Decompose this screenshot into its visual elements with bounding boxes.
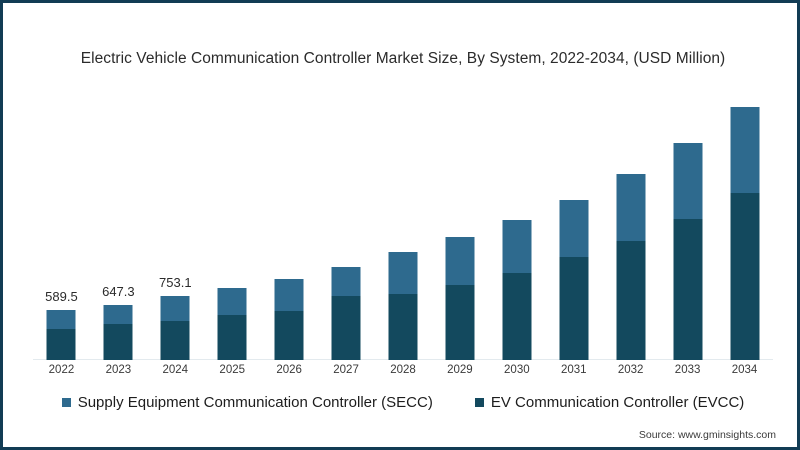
chart-legend: Supply Equipment Communication Controlle…: [6, 394, 794, 411]
bar-segment-evcc[interactable]: [104, 324, 133, 360]
bar-segment-evcc[interactable]: [616, 241, 645, 360]
bar-segment-secc[interactable]: [47, 310, 76, 329]
bar-segment-secc[interactable]: [559, 200, 588, 257]
stacked-bar[interactable]: [559, 200, 588, 360]
bar-segment-evcc[interactable]: [332, 296, 361, 360]
bar-group: [204, 88, 261, 360]
bar-value-label: 753.1: [159, 275, 192, 290]
stacked-bar[interactable]: [388, 252, 417, 360]
bar-segment-evcc[interactable]: [47, 329, 76, 360]
bar-group: [716, 88, 773, 360]
bar-group: [488, 88, 545, 360]
legend-label-secc: Supply Equipment Communication Controlle…: [78, 394, 433, 411]
legend-item-evcc[interactable]: EV Communication Controller (EVCC): [475, 394, 744, 411]
bar-group: [602, 88, 659, 360]
bar-segment-evcc[interactable]: [218, 315, 247, 360]
bar-segment-evcc[interactable]: [502, 273, 531, 360]
chart-inner-frame: Electric Vehicle Communication Controlle…: [6, 6, 794, 444]
bar-segment-evcc[interactable]: [730, 193, 759, 360]
bar-segment-secc[interactable]: [218, 288, 247, 315]
bar-segment-evcc[interactable]: [673, 219, 702, 360]
x-tick-label: 2027: [318, 364, 375, 376]
x-axis-tick-labels: 2022202320242025202620272028202920302031…: [33, 364, 773, 384]
bar-group: 589.5: [33, 88, 90, 360]
legend-item-secc[interactable]: Supply Equipment Communication Controlle…: [62, 394, 433, 411]
bar-group: [545, 88, 602, 360]
bar-segment-secc[interactable]: [161, 296, 190, 321]
bar-segment-secc[interactable]: [445, 237, 474, 285]
bar-segment-secc[interactable]: [388, 252, 417, 294]
bar-segment-secc[interactable]: [332, 267, 361, 296]
stacked-bar[interactable]: [47, 310, 76, 360]
bar-group: 647.3: [90, 88, 147, 360]
bar-group: [431, 88, 488, 360]
bar-segment-evcc[interactable]: [559, 257, 588, 360]
x-tick-label: 2031: [545, 364, 602, 376]
bar-group: [318, 88, 375, 360]
x-tick-label: 2022: [33, 364, 90, 376]
stacked-bar[interactable]: [445, 237, 474, 360]
bar-segment-secc[interactable]: [730, 107, 759, 193]
bar-segment-secc[interactable]: [673, 143, 702, 220]
legend-swatch-icon-evcc: [475, 398, 484, 407]
source-attribution: Source: www.gminsights.com: [639, 429, 776, 441]
stacked-bar[interactable]: [673, 143, 702, 360]
bar-segment-secc[interactable]: [616, 174, 645, 241]
bar-group: 753.1: [147, 88, 204, 360]
page-title: Electric Vehicle Communication Controlle…: [6, 50, 794, 68]
stacked-bar[interactable]: [104, 305, 133, 360]
chart-figure: Electric Vehicle Communication Controlle…: [0, 0, 800, 450]
bar-segment-evcc[interactable]: [161, 321, 190, 360]
bar-segment-secc[interactable]: [502, 220, 531, 273]
bar-group: [375, 88, 432, 360]
x-tick-label: 2028: [375, 364, 432, 376]
stacked-bar[interactable]: [275, 279, 304, 360]
bar-segment-evcc[interactable]: [388, 294, 417, 360]
x-tick-label: 2023: [90, 364, 147, 376]
bar-value-label: 647.3: [102, 284, 135, 299]
bar-value-label: 589.5: [45, 289, 78, 304]
stacked-bar[interactable]: [730, 107, 759, 360]
bar-segment-secc[interactable]: [104, 305, 133, 324]
bar-segment-secc[interactable]: [275, 279, 304, 312]
plot-area: 589.5647.3753.1: [33, 88, 773, 360]
stacked-bar[interactable]: [616, 174, 645, 360]
bar-segment-evcc[interactable]: [445, 285, 474, 360]
x-tick-label: 2024: [147, 364, 204, 376]
stacked-bar[interactable]: [332, 267, 361, 360]
x-tick-label: 2033: [659, 364, 716, 376]
bar-group: [659, 88, 716, 360]
x-tick-label: 2034: [716, 364, 773, 376]
x-tick-label: 2029: [431, 364, 488, 376]
stacked-bar[interactable]: [502, 220, 531, 360]
x-tick-label: 2025: [204, 364, 261, 376]
legend-label-evcc: EV Communication Controller (EVCC): [491, 394, 744, 411]
x-tick-label: 2030: [488, 364, 545, 376]
bar-segment-evcc[interactable]: [275, 311, 304, 360]
stacked-bar[interactable]: [218, 288, 247, 360]
x-tick-label: 2026: [261, 364, 318, 376]
legend-swatch-icon-secc: [62, 398, 71, 407]
stacked-bar[interactable]: [161, 296, 190, 360]
x-tick-label: 2032: [602, 364, 659, 376]
bar-group: [261, 88, 318, 360]
